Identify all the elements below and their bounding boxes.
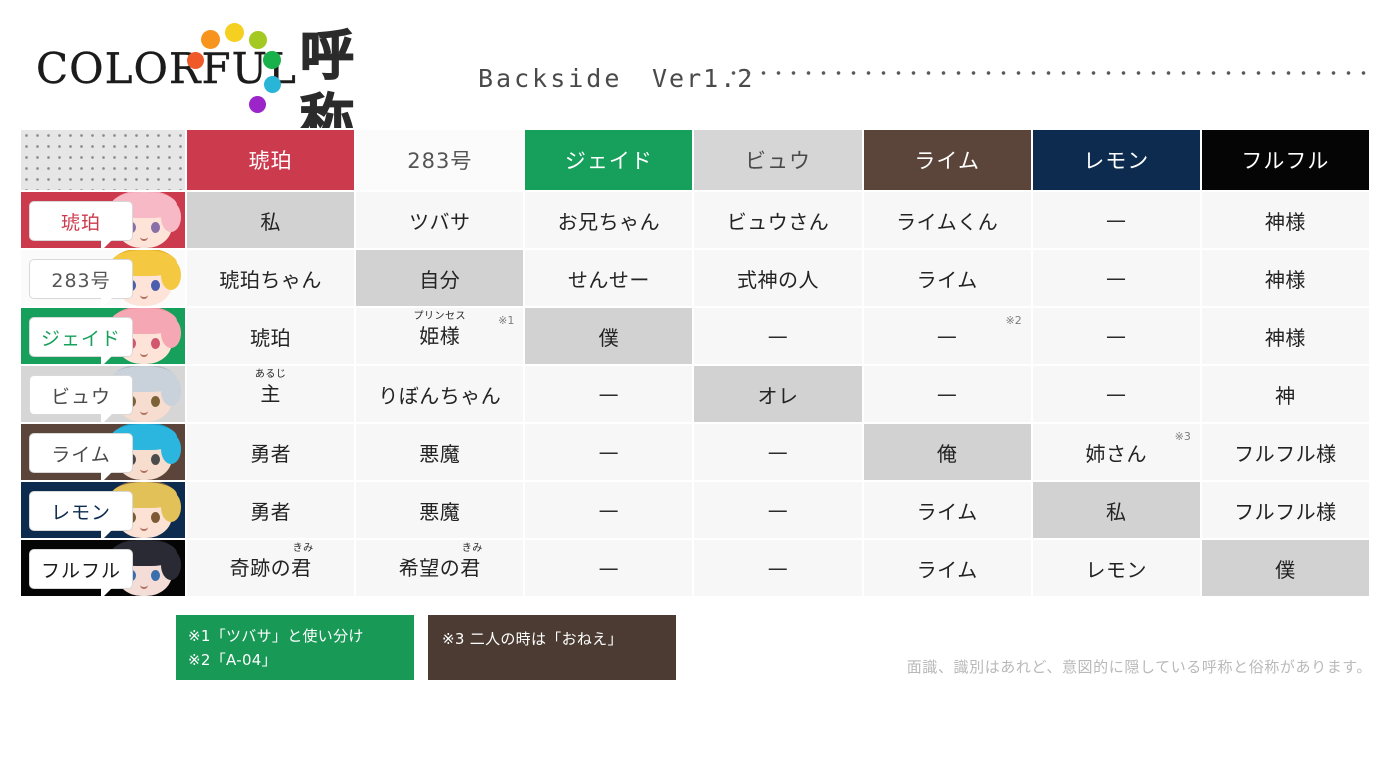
cell-text: — [599, 498, 620, 522]
cell-r3-c1: 琥珀 [186, 307, 355, 365]
cell-r5-c3: — [524, 423, 693, 481]
column-header-label: 琥珀 [249, 149, 293, 173]
cell-r4-c7: 神 [1201, 365, 1370, 423]
cell-text: 僕 [599, 326, 620, 350]
cell-text: — [937, 382, 958, 406]
cell-text: 式神の人 [737, 268, 819, 292]
cell-r4-c5: — [863, 365, 1032, 423]
cell-text: 姉さん [1086, 442, 1148, 466]
cell-text: — [768, 324, 789, 348]
table-corner-cell [20, 129, 186, 191]
table-header-row: 琥珀283号ジェイドビュウライムレモンフルフル [20, 129, 1370, 191]
cell-r4-c6: — [1032, 365, 1201, 423]
footnote-2: ※2「A-04」 [188, 648, 414, 672]
cell-text: 私 [260, 210, 281, 234]
row-header-label: フルフル [29, 549, 133, 589]
cell-text: ビュウさん [727, 210, 830, 234]
cell-text: 希望の君 [399, 558, 481, 578]
cell-text: ライム [917, 558, 978, 582]
cell-text: ツバサ [409, 210, 471, 234]
cell-text: レモン [1086, 558, 1148, 582]
cell-text: — [937, 324, 958, 348]
logo-dot [249, 96, 266, 113]
cell-text: お兄ちゃん [558, 210, 661, 234]
column-header-label: フルフル [1241, 149, 1329, 173]
cell-text: ライムくん [896, 210, 998, 234]
cell-r5-c6: 姉さん※3 [1032, 423, 1201, 481]
dotted-leader-line [726, 68, 1374, 78]
cell-text: 琥珀 [250, 326, 291, 350]
footnote-box-brown: ※3 二人の時は「おねえ」 [428, 615, 676, 680]
table-row: レモン勇者悪魔——ライム私フルフル様 [20, 481, 1370, 539]
cell-text: 僕 [1275, 558, 1296, 582]
cell-r7-c3: — [524, 539, 693, 597]
column-header-label: ビュウ [745, 149, 811, 173]
cell-r6-c1: 勇者 [186, 481, 355, 539]
column-header-1[interactable]: 琥珀 [186, 129, 355, 191]
cell-r1-c7: 神様 [1201, 191, 1370, 249]
table-row: ライム勇者悪魔——俺姉さん※3フルフル様 [20, 423, 1370, 481]
cell-text: オレ [758, 384, 799, 408]
cell-r3-c5: —※2 [863, 307, 1032, 365]
column-header-5[interactable]: ライム [863, 129, 1032, 191]
disclaimer-text: 面識、識別はあれど、意図的に隠している呼称と俗称があります。 [907, 656, 1372, 677]
footnote-3: ※3 二人の時は「おねえ」 [442, 628, 676, 649]
cell-text: フルフル様 [1234, 500, 1337, 524]
cell-r6-c4: — [693, 481, 862, 539]
cell-text: 神様 [1265, 268, 1306, 292]
cell-r2-c4: 式神の人 [693, 249, 862, 307]
title-subtitle: Backside [478, 64, 622, 93]
cell-text: — [768, 440, 789, 464]
cell-text: 神様 [1265, 210, 1306, 234]
row-header-label: 琥珀 [29, 201, 133, 241]
cell-text: 私 [1106, 500, 1127, 524]
column-header-3[interactable]: ジェイド [524, 129, 693, 191]
cell-text: — [768, 556, 789, 580]
cell-r4-c2: りぼんちゃん [355, 365, 524, 423]
logo-dot [225, 23, 244, 42]
cell-text: 神様 [1265, 326, 1306, 350]
cell-r5-c1: 勇者 [186, 423, 355, 481]
cell-r7-c2: きみ希望の君 [355, 539, 524, 597]
cell-r1-c5: ライムくん [863, 191, 1032, 249]
table-row: 琥珀私ツバサお兄ちゃんビュウさんライムくん—神様 [20, 191, 1370, 249]
cell-r2-c7: 神様 [1201, 249, 1370, 307]
cell-r7-c6: レモン [1032, 539, 1201, 597]
footnote-marker: ※2 [1006, 314, 1022, 327]
cell-r2-c5: ライム [863, 249, 1032, 307]
cell-text: — [1106, 324, 1127, 348]
page-header: COLORFUL 呼称表 Backside Ver1.2 [0, 0, 1400, 118]
table-row: 283号琥珀ちゃん自分せんせー式神の人ライム—神様 [20, 249, 1370, 307]
cell-r3-c2: プリンセス姫様※1 [355, 307, 524, 365]
cell-r7-c1: きみ奇跡の君 [186, 539, 355, 597]
table-row: ビュウあるじ主りぼんちゃん—オレ——神 [20, 365, 1370, 423]
cell-r5-c7: フルフル様 [1201, 423, 1370, 481]
column-header-label: ライム [914, 149, 980, 173]
table-row: ジェイド琥珀プリンセス姫様※1僕——※2—神様 [20, 307, 1370, 365]
cell-r3-c6: — [1032, 307, 1201, 365]
cell-r1-c3: お兄ちゃん [524, 191, 693, 249]
cell-text: — [599, 382, 620, 406]
page-root: COLORFUL 呼称表 Backside Ver1.2 琥珀283号ジェイドビ… [0, 0, 1400, 764]
cell-r5-c2: 悪魔 [355, 423, 524, 481]
column-header-6[interactable]: レモン [1032, 129, 1201, 191]
ruby-text: きみ希望の君 [399, 558, 481, 578]
cell-r2-c3: せんせー [524, 249, 693, 307]
footnote-box-green: ※1「ツバサ」と使い分け ※2「A-04」 [176, 615, 414, 680]
cell-r1-c4: ビュウさん [693, 191, 862, 249]
table-row: フルフルきみ奇跡の君きみ希望の君——ライムレモン僕 [20, 539, 1370, 597]
ruby-text: きみ奇跡の君 [230, 558, 312, 578]
logo-dot [187, 52, 204, 69]
row-header-label: レモン [29, 491, 133, 531]
cell-text: 俺 [937, 442, 958, 466]
naming-chart-table: 琥珀283号ジェイドビュウライムレモンフルフル 琥珀私ツバサお兄ちゃんビュウさん… [19, 128, 1371, 598]
cell-r3-c3: 僕 [524, 307, 693, 365]
cell-r7-c5: ライム [863, 539, 1032, 597]
row-header-label: 283号 [29, 259, 133, 299]
row-header-5[interactable]: ライム [20, 423, 186, 481]
ruby-annotation: きみ [462, 544, 483, 554]
cell-text: ライム [917, 500, 978, 524]
cell-r3-c4: — [693, 307, 862, 365]
row-header-3[interactable]: ジェイド [20, 307, 186, 365]
row-header-label: ライム [29, 433, 133, 473]
ruby-annotation: プリンセス [414, 312, 467, 322]
cell-r2-c2: 自分 [355, 249, 524, 307]
cell-r7-c7: 僕 [1201, 539, 1370, 597]
row-header-label: ジェイド [29, 317, 133, 357]
column-header-label: 283号 [407, 149, 472, 173]
cell-r3-c7: 神様 [1201, 307, 1370, 365]
column-header-7[interactable]: フルフル [1201, 129, 1370, 191]
cell-text: 主 [260, 384, 281, 404]
cell-text: 奇跡の君 [230, 558, 312, 578]
logo-dot [263, 51, 281, 69]
row-header-4[interactable]: ビュウ [20, 365, 186, 423]
logo-dot [201, 30, 220, 49]
cell-r4-c4: オレ [693, 365, 862, 423]
cell-r6-c5: ライム [863, 481, 1032, 539]
cell-text: 神 [1275, 384, 1296, 408]
cell-text: — [768, 498, 789, 522]
logo-dot [249, 31, 267, 49]
column-header-2[interactable]: 283号 [355, 129, 524, 191]
naming-chart-table-wrapper: 琥珀283号ジェイドビュウライムレモンフルフル 琥珀私ツバサお兄ちゃんビュウさん… [19, 128, 1371, 598]
cell-text: せんせー [568, 268, 650, 292]
colorful-logo: COLORFUL [36, 22, 286, 102]
cell-text: — [1106, 266, 1127, 290]
cell-r4-c1: あるじ主 [186, 365, 355, 423]
cell-text: 自分 [419, 268, 460, 292]
cell-text: フルフル様 [1234, 442, 1337, 466]
cell-text: ライム [917, 268, 978, 292]
cell-r6-c2: 悪魔 [355, 481, 524, 539]
cell-text: 悪魔 [419, 500, 460, 524]
ruby-annotation: きみ [293, 544, 314, 554]
cell-r2-c6: — [1032, 249, 1201, 307]
row-header-2[interactable]: 283号 [20, 249, 186, 307]
cell-r5-c5: 俺 [863, 423, 1032, 481]
cell-text: 勇者 [250, 442, 291, 466]
column-header-label: レモン [1083, 149, 1149, 173]
cell-text: — [599, 556, 620, 580]
cell-r1-c6: — [1032, 191, 1201, 249]
column-header-4[interactable]: ビュウ [693, 129, 862, 191]
row-header-label: ビュウ [29, 375, 133, 415]
cell-text: — [1106, 382, 1127, 406]
row-header-6[interactable]: レモン [20, 481, 186, 539]
cell-r1-c2: ツバサ [355, 191, 524, 249]
cell-text: — [599, 440, 620, 464]
cell-text: 悪魔 [419, 442, 460, 466]
ruby-text: あるじ主 [260, 384, 281, 404]
cell-r1-c1: 私 [186, 191, 355, 249]
cell-text: 勇者 [250, 500, 291, 524]
row-header-7[interactable]: フルフル [20, 539, 186, 597]
table-header: 琥珀283号ジェイドビュウライムレモンフルフル [20, 129, 1370, 191]
cell-r7-c4: — [693, 539, 862, 597]
cell-r5-c4: — [693, 423, 862, 481]
cell-r6-c6: 私 [1032, 481, 1201, 539]
cell-text: 姫様 [419, 326, 460, 346]
table-body: 琥珀私ツバサお兄ちゃんビュウさんライムくん—神様283号琥珀ちゃん自分せんせー式… [20, 191, 1370, 597]
cell-text: — [1106, 208, 1127, 232]
logo-dot-ring-icon [184, 22, 284, 122]
cell-r6-c3: — [524, 481, 693, 539]
footnote-marker: ※3 [1175, 430, 1191, 443]
ruby-annotation: あるじ [255, 370, 287, 380]
row-header-1[interactable]: 琥珀 [20, 191, 186, 249]
cell-text: 琥珀ちゃん [219, 268, 322, 292]
cell-r4-c3: — [524, 365, 693, 423]
cell-text: りぼんちゃん [378, 384, 501, 408]
column-header-label: ジェイド [565, 149, 653, 173]
cell-r6-c7: フルフル様 [1201, 481, 1370, 539]
footnote-marker: ※1 [498, 314, 514, 327]
footnote-1: ※1「ツバサ」と使い分け [188, 624, 414, 648]
logo-dot [264, 76, 281, 93]
ruby-text: プリンセス姫様 [419, 326, 460, 346]
cell-r2-c1: 琥珀ちゃん [186, 249, 355, 307]
